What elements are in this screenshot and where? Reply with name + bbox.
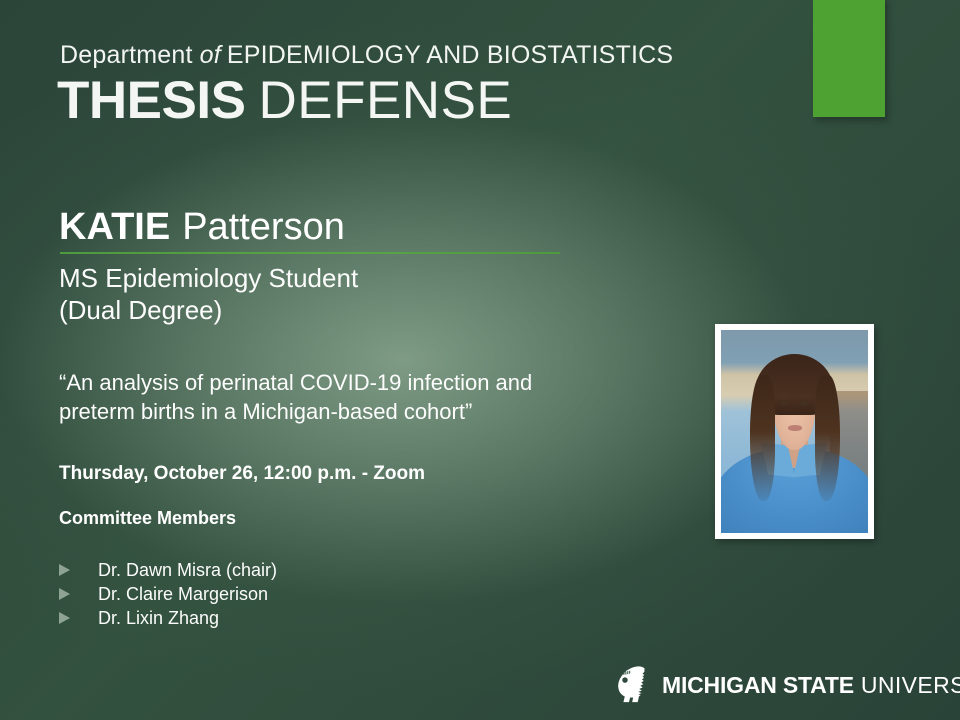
spartan-helmet-icon xyxy=(614,665,650,705)
triangle-right-icon xyxy=(59,588,70,600)
msu-logo: MICHIGAN STATEUNIVERSITY xyxy=(614,663,960,707)
list-item: Dr. Dawn Misra (chair) xyxy=(59,558,277,582)
accent-block xyxy=(813,0,885,117)
student-program: MS Epidemiology Student (Dual Degree) xyxy=(59,262,358,326)
department-prefix: Department xyxy=(60,41,193,69)
msu-wordmark-bold: MICHIGAN STATE xyxy=(662,672,854,698)
photo-hair-left xyxy=(750,375,775,501)
committee-member-name: Dr. Claire Margerison xyxy=(98,584,268,605)
triangle-right-icon xyxy=(59,564,70,576)
student-last-name: Patterson xyxy=(182,206,345,248)
department-name: EPIDEMIOLOGY AND BIOSTATISTICS xyxy=(227,41,673,69)
msu-wordmark-light: UNIVERSITY xyxy=(861,672,960,698)
photo-brow-right xyxy=(798,393,812,399)
committee-member-name: Dr. Dawn Misra (chair) xyxy=(98,560,277,581)
msu-wordmark: MICHIGAN STATEUNIVERSITY xyxy=(662,674,960,697)
triangle-right-icon xyxy=(59,612,70,624)
thesis-title: “An analysis of perinatal COVID-19 infec… xyxy=(59,368,599,426)
committee-member-name: Dr. Lixin Zhang xyxy=(98,608,219,629)
portrait-photo-frame xyxy=(715,324,874,539)
committee-heading: Committee Members xyxy=(59,508,236,529)
page-title-light: DEFENSE xyxy=(258,71,512,130)
photo-mouth xyxy=(788,425,802,430)
department-of: of xyxy=(200,41,221,69)
photo-hair-right xyxy=(815,375,840,501)
thesis-defense-slide: DepartmentofEPIDEMIOLOGY AND BIOSTATISTI… xyxy=(0,0,960,720)
department-line: DepartmentofEPIDEMIOLOGY AND BIOSTATISTI… xyxy=(60,41,673,70)
avatar xyxy=(721,330,868,533)
page-title: THESISDEFENSE xyxy=(57,72,512,130)
committee-list: Dr. Dawn Misra (chair) Dr. Claire Marger… xyxy=(59,558,277,630)
defense-datetime: Thursday, October 26, 12:00 p.m. - Zoom xyxy=(59,463,425,485)
name-divider xyxy=(60,252,560,254)
list-item: Dr. Lixin Zhang xyxy=(59,606,277,630)
student-name: KATIEPatterson xyxy=(59,205,345,249)
student-first-name: KATIE xyxy=(59,206,170,248)
list-item: Dr. Claire Margerison xyxy=(59,582,277,606)
page-title-bold: THESIS xyxy=(57,71,245,130)
